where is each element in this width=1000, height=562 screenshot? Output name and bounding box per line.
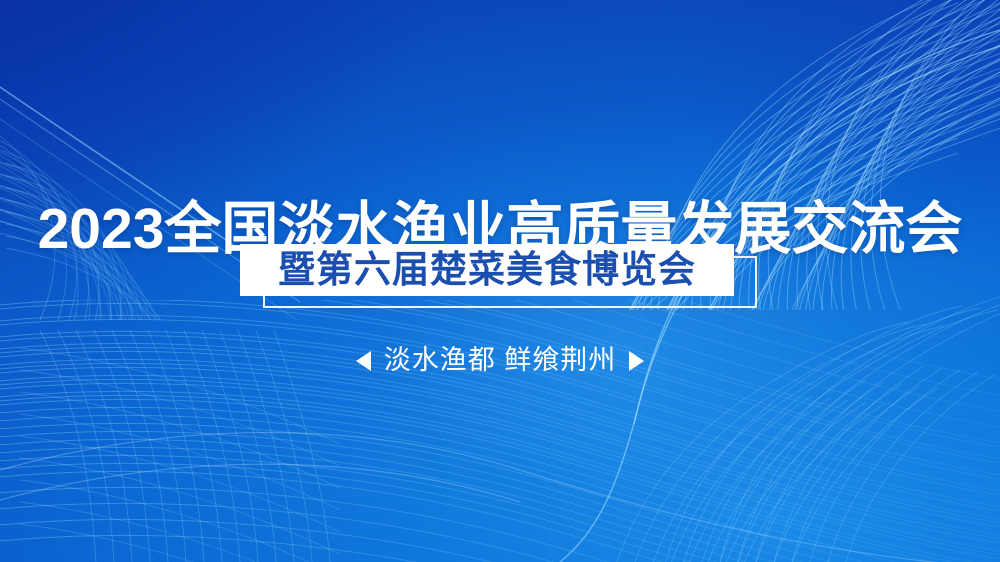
left-triangle-icon bbox=[356, 351, 371, 371]
subtitle-text: 暨第六届楚菜美食博览会 bbox=[278, 252, 696, 289]
tagline-row: 淡水渔都 鲜飨荆州 bbox=[0, 347, 1000, 374]
poster-content: 2023全国淡水渔业高质量发展交流会 暨第六届楚菜美食博览会 淡水渔都 鲜飨荆州 bbox=[0, 0, 1000, 562]
subtitle-plate: 暨第六届楚菜美食博览会 bbox=[240, 244, 734, 296]
subtitle-plate-group: 暨第六届楚菜美食博览会 bbox=[240, 244, 760, 310]
poster-canvas: 2023全国淡水渔业高质量发展交流会 暨第六届楚菜美食博览会 淡水渔都 鲜飨荆州 bbox=[0, 0, 1000, 562]
tagline-text: 淡水渔都 鲜飨荆州 bbox=[384, 347, 617, 374]
right-triangle-icon bbox=[629, 351, 644, 371]
